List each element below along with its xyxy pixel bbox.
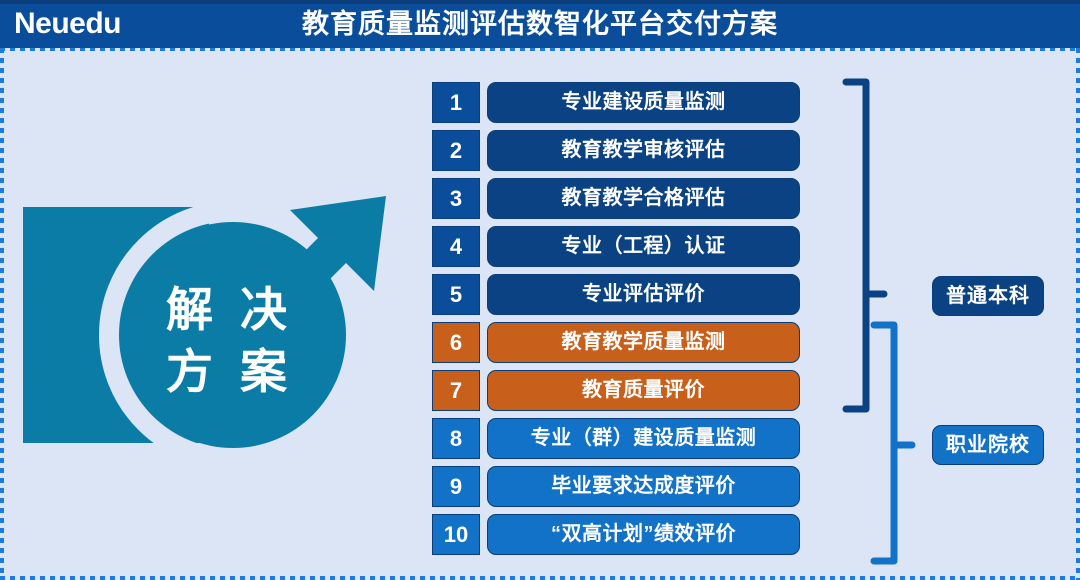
item-label[interactable]: 教育教学合格评估 [487, 178, 800, 219]
header-top-rule [0, 0, 1080, 4]
item-label[interactable]: 教育教学质量监测 [487, 322, 800, 363]
item-number: 7 [432, 370, 480, 411]
category-label-vocational[interactable]: 职业院校 [932, 425, 1044, 465]
item-label[interactable]: 教育教学审核评估 [487, 130, 800, 171]
category-label-undergraduate[interactable]: 普通本科 [932, 276, 1044, 316]
item-number: 10 [432, 514, 480, 555]
item-label[interactable]: 毕业要求达成度评价 [487, 466, 800, 507]
slide-root: Neuedu 教育质量监测评估数智化平台交付方案 解 决 方 案 [0, 0, 1080, 580]
item-number: 3 [432, 178, 480, 219]
item-label[interactable]: 专业（工程）认证 [487, 226, 800, 267]
item-number: 8 [432, 418, 480, 459]
item-label[interactable]: 教育质量评价 [487, 370, 800, 411]
item-label[interactable]: 专业（群）建设质量监测 [487, 418, 800, 459]
item-list: 1 专业建设质量监测 2 教育教学审核评估 3 教育教学合格评估 4 专业（工程… [0, 48, 1080, 580]
item-number: 5 [432, 274, 480, 315]
item-label[interactable]: 专业建设质量监测 [487, 82, 800, 123]
slide-body: 解 决 方 案 1 专业建设质量监测 2 教育教学审核评估 3 教育教学合格评估… [0, 48, 1080, 580]
item-label[interactable]: 专业评估评价 [487, 274, 800, 315]
item-number: 6 [432, 322, 480, 363]
slide-header: Neuedu 教育质量监测评估数智化平台交付方案 [0, 0, 1080, 48]
item-number: 1 [432, 82, 480, 123]
item-number: 9 [432, 466, 480, 507]
item-number: 4 [432, 226, 480, 267]
item-label[interactable]: “双高计划”绩效评价 [487, 514, 800, 555]
item-number: 2 [432, 130, 480, 171]
page-title: 教育质量监测评估数智化平台交付方案 [0, 9, 1080, 40]
